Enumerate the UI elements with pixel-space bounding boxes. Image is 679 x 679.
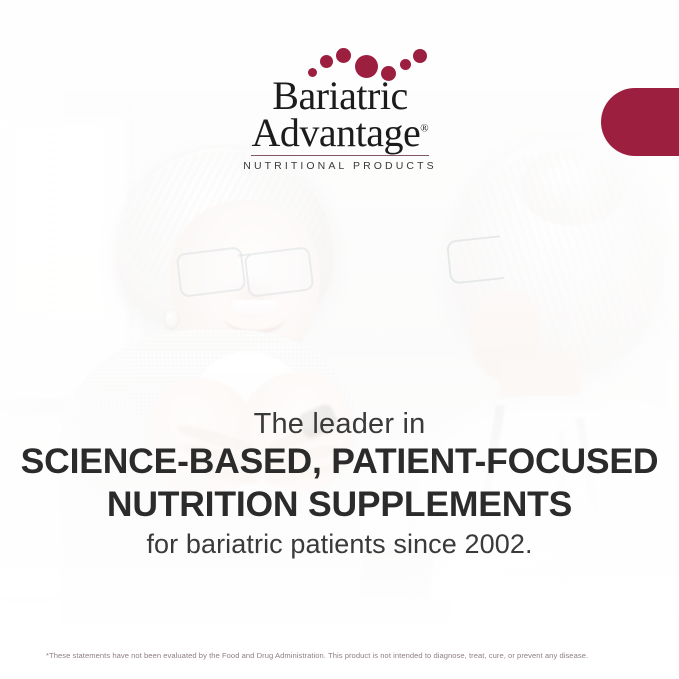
logo-word-advantage: Advantage [251,110,420,155]
logo-dot-icon [336,48,351,63]
logo-dots-cluster [240,44,440,82]
headline-block: The leader in SCIENCE-BASED, PATIENT-FOC… [0,408,679,561]
logo-dot-icon [413,49,427,63]
logo-tagline: NUTRITIONAL PRODUCTS [240,160,440,172]
logo-word-advantage-wrap: Advantage® [240,115,440,152]
headline-eyebrow: The leader in [0,408,679,440]
brand-logo: Bariatric Advantage® NUTRITIONAL PRODUCT… [240,44,440,172]
headline-line-two: NUTRITION SUPPLEMENTS [0,483,679,526]
logo-dot-icon [381,66,396,81]
logo-dot-icon [308,68,317,77]
advertisement-banner: Bariatric Advantage® NUTRITIONAL PRODUCT… [0,0,679,679]
logo-dot-icon [320,55,333,68]
logo-divider-rule [251,155,429,157]
logo-dot-icon [400,59,411,70]
rounded-red-tab [601,88,679,156]
logo-dot-icon [355,55,378,78]
headline-line-one: SCIENCE-BASED, PATIENT-FOCUSED [0,440,679,483]
legal-disclaimer: *These statements have not been evaluate… [46,651,646,660]
headline-tagline: for bariatric patients since 2002. [0,528,679,562]
registered-trademark-icon: ® [420,122,428,134]
